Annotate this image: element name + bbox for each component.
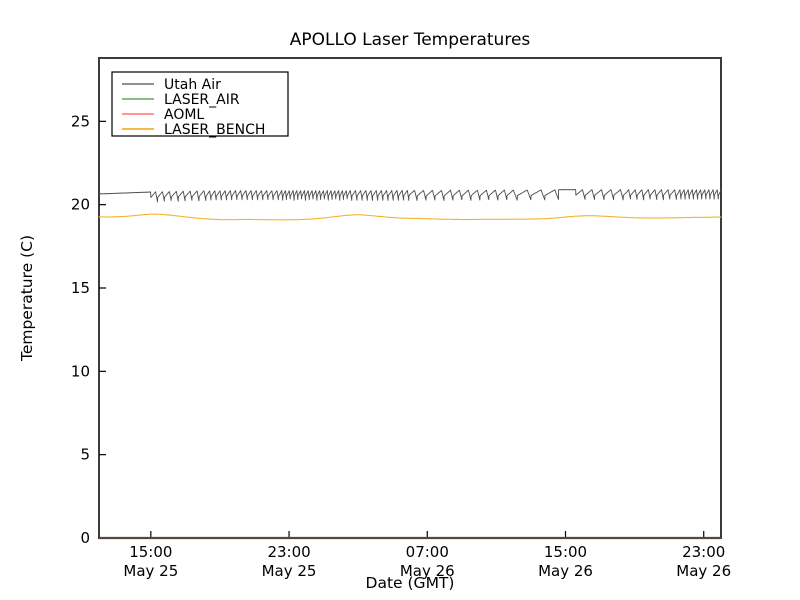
y-tick-label: 0 [80, 529, 90, 547]
x-tick-label-time: 07:00 [406, 543, 449, 561]
x-tick-label-time: 15:00 [129, 543, 172, 561]
apollo-laser-temperatures-chart: APOLLO Laser Temperatures 0510152025 15:… [0, 0, 800, 600]
chart-legend[interactable]: Utah AirLASER_AIRAOMLLASER_BENCH [112, 72, 288, 138]
x-tick-label-time: 23:00 [682, 543, 725, 561]
legend-label: LASER_AIR [164, 92, 240, 108]
y-tick-label: 15 [71, 279, 90, 297]
x-axis-label: Date (GMT) [366, 574, 455, 592]
y-axis-label: Temperature (C) [18, 235, 36, 362]
x-tick-label-date: May 26 [538, 562, 593, 580]
x-tick-label-date: May 25 [123, 562, 178, 580]
x-tick-label-time: 15:00 [544, 543, 587, 561]
x-tick-label-time: 23:00 [267, 543, 310, 561]
legend-label: LASER_BENCH [164, 122, 265, 138]
legend-label: AOML [164, 107, 204, 123]
y-tick-label: 20 [71, 196, 90, 214]
y-tick-label: 5 [80, 446, 90, 464]
y-tick-label: 10 [71, 362, 90, 380]
x-tick-label-date: May 26 [676, 562, 731, 580]
page-title: APOLLO Laser Temperatures [290, 30, 531, 50]
x-tick-label-date: May 25 [262, 562, 317, 580]
legend-label: Utah Air [164, 77, 221, 93]
y-tick-label: 25 [71, 112, 90, 130]
chart-figure: APOLLO Laser Temperatures 0510152025 15:… [0, 0, 800, 600]
